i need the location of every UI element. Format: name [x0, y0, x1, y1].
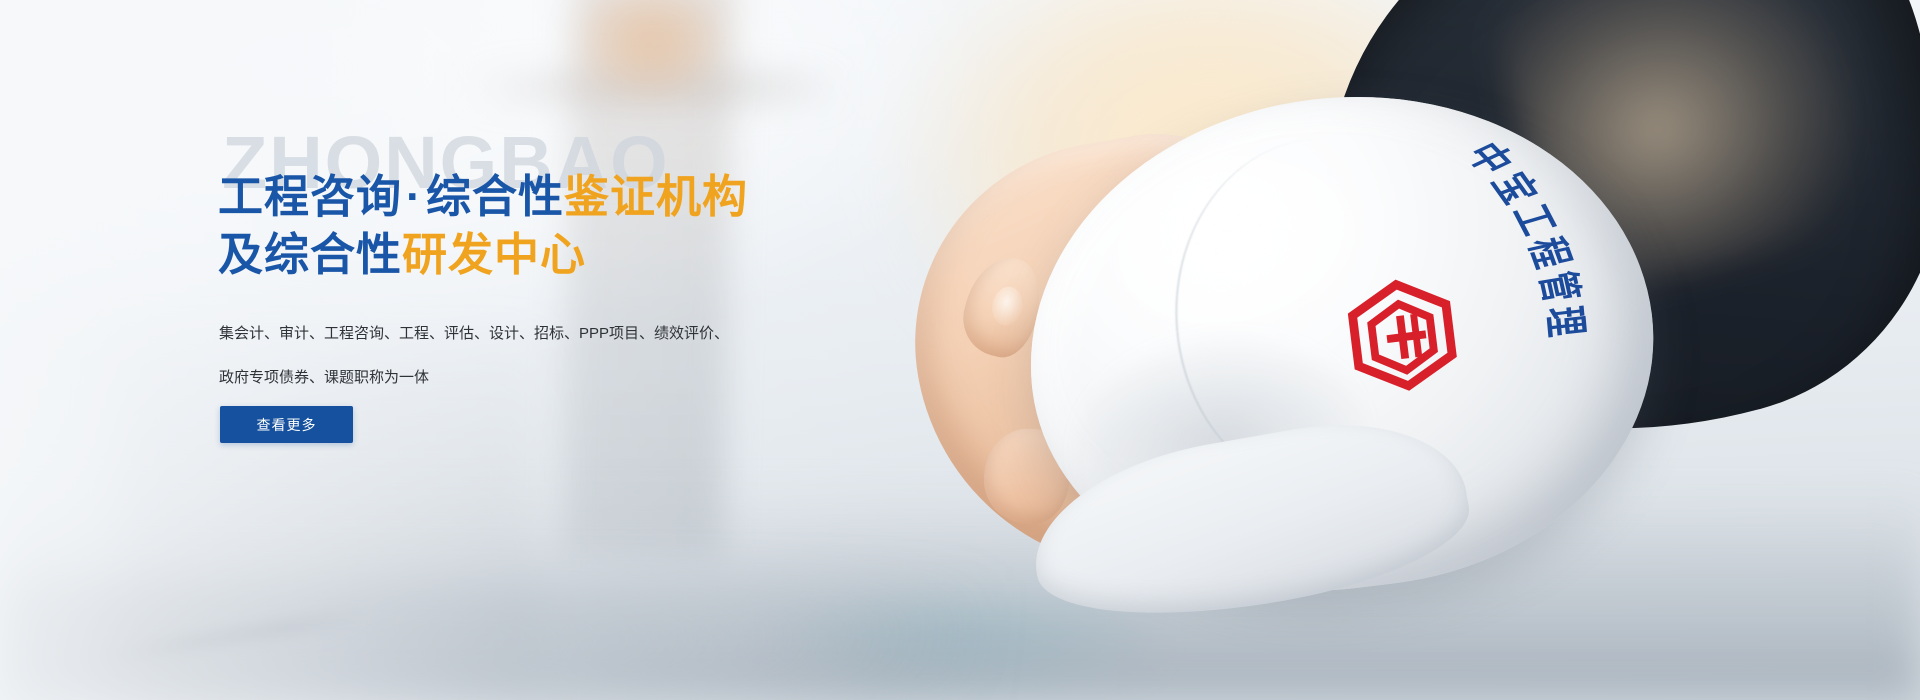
headline: 工程咨询·综合性鉴证机构 及综合性研发中心: [218, 168, 748, 284]
worker-hand-with-helmet: 中宝工程管理: [806, 0, 1920, 700]
headline-line2-accent: 研发中心: [402, 229, 586, 280]
headline-line-2: 及综合性研发中心: [218, 226, 748, 284]
headline-line1-accent: 鉴证机构: [564, 171, 748, 222]
white-hard-hat: 中宝工程管理: [1002, 62, 1681, 624]
headline-separator-dot: ·: [402, 171, 426, 222]
subtitle: 集会计、审计、工程咨询、工程、评估、设计、招标、PPP项目、绩效评价、 政府专项…: [219, 312, 729, 400]
headline-line1-segment-a: 工程咨询: [218, 171, 402, 222]
headline-line2-segment: 及综合性: [218, 229, 402, 280]
hero-banner: 中宝工程管理 ZHONGBAO 工程咨询·综合性鉴证机构 及综合: [0, 0, 1920, 700]
headline-line-1: 工程咨询·综合性鉴证机构: [218, 168, 748, 226]
banner-content: ZHONGBAO 工程咨询·综合性鉴证机构 及综合性研发中心 集会计、审计、工程…: [0, 0, 900, 700]
subtitle-line-1: 集会计、审计、工程咨询、工程、评估、设计、招标、PPP项目、绩效评价、: [219, 312, 729, 356]
subtitle-line-2: 政府专项债券、课题职称为一体: [219, 356, 729, 400]
headline-line1-segment-b: 综合性: [426, 171, 564, 222]
zhongbao-hexagon-logo: [1321, 268, 1484, 403]
view-more-button[interactable]: 查看更多: [220, 406, 353, 443]
